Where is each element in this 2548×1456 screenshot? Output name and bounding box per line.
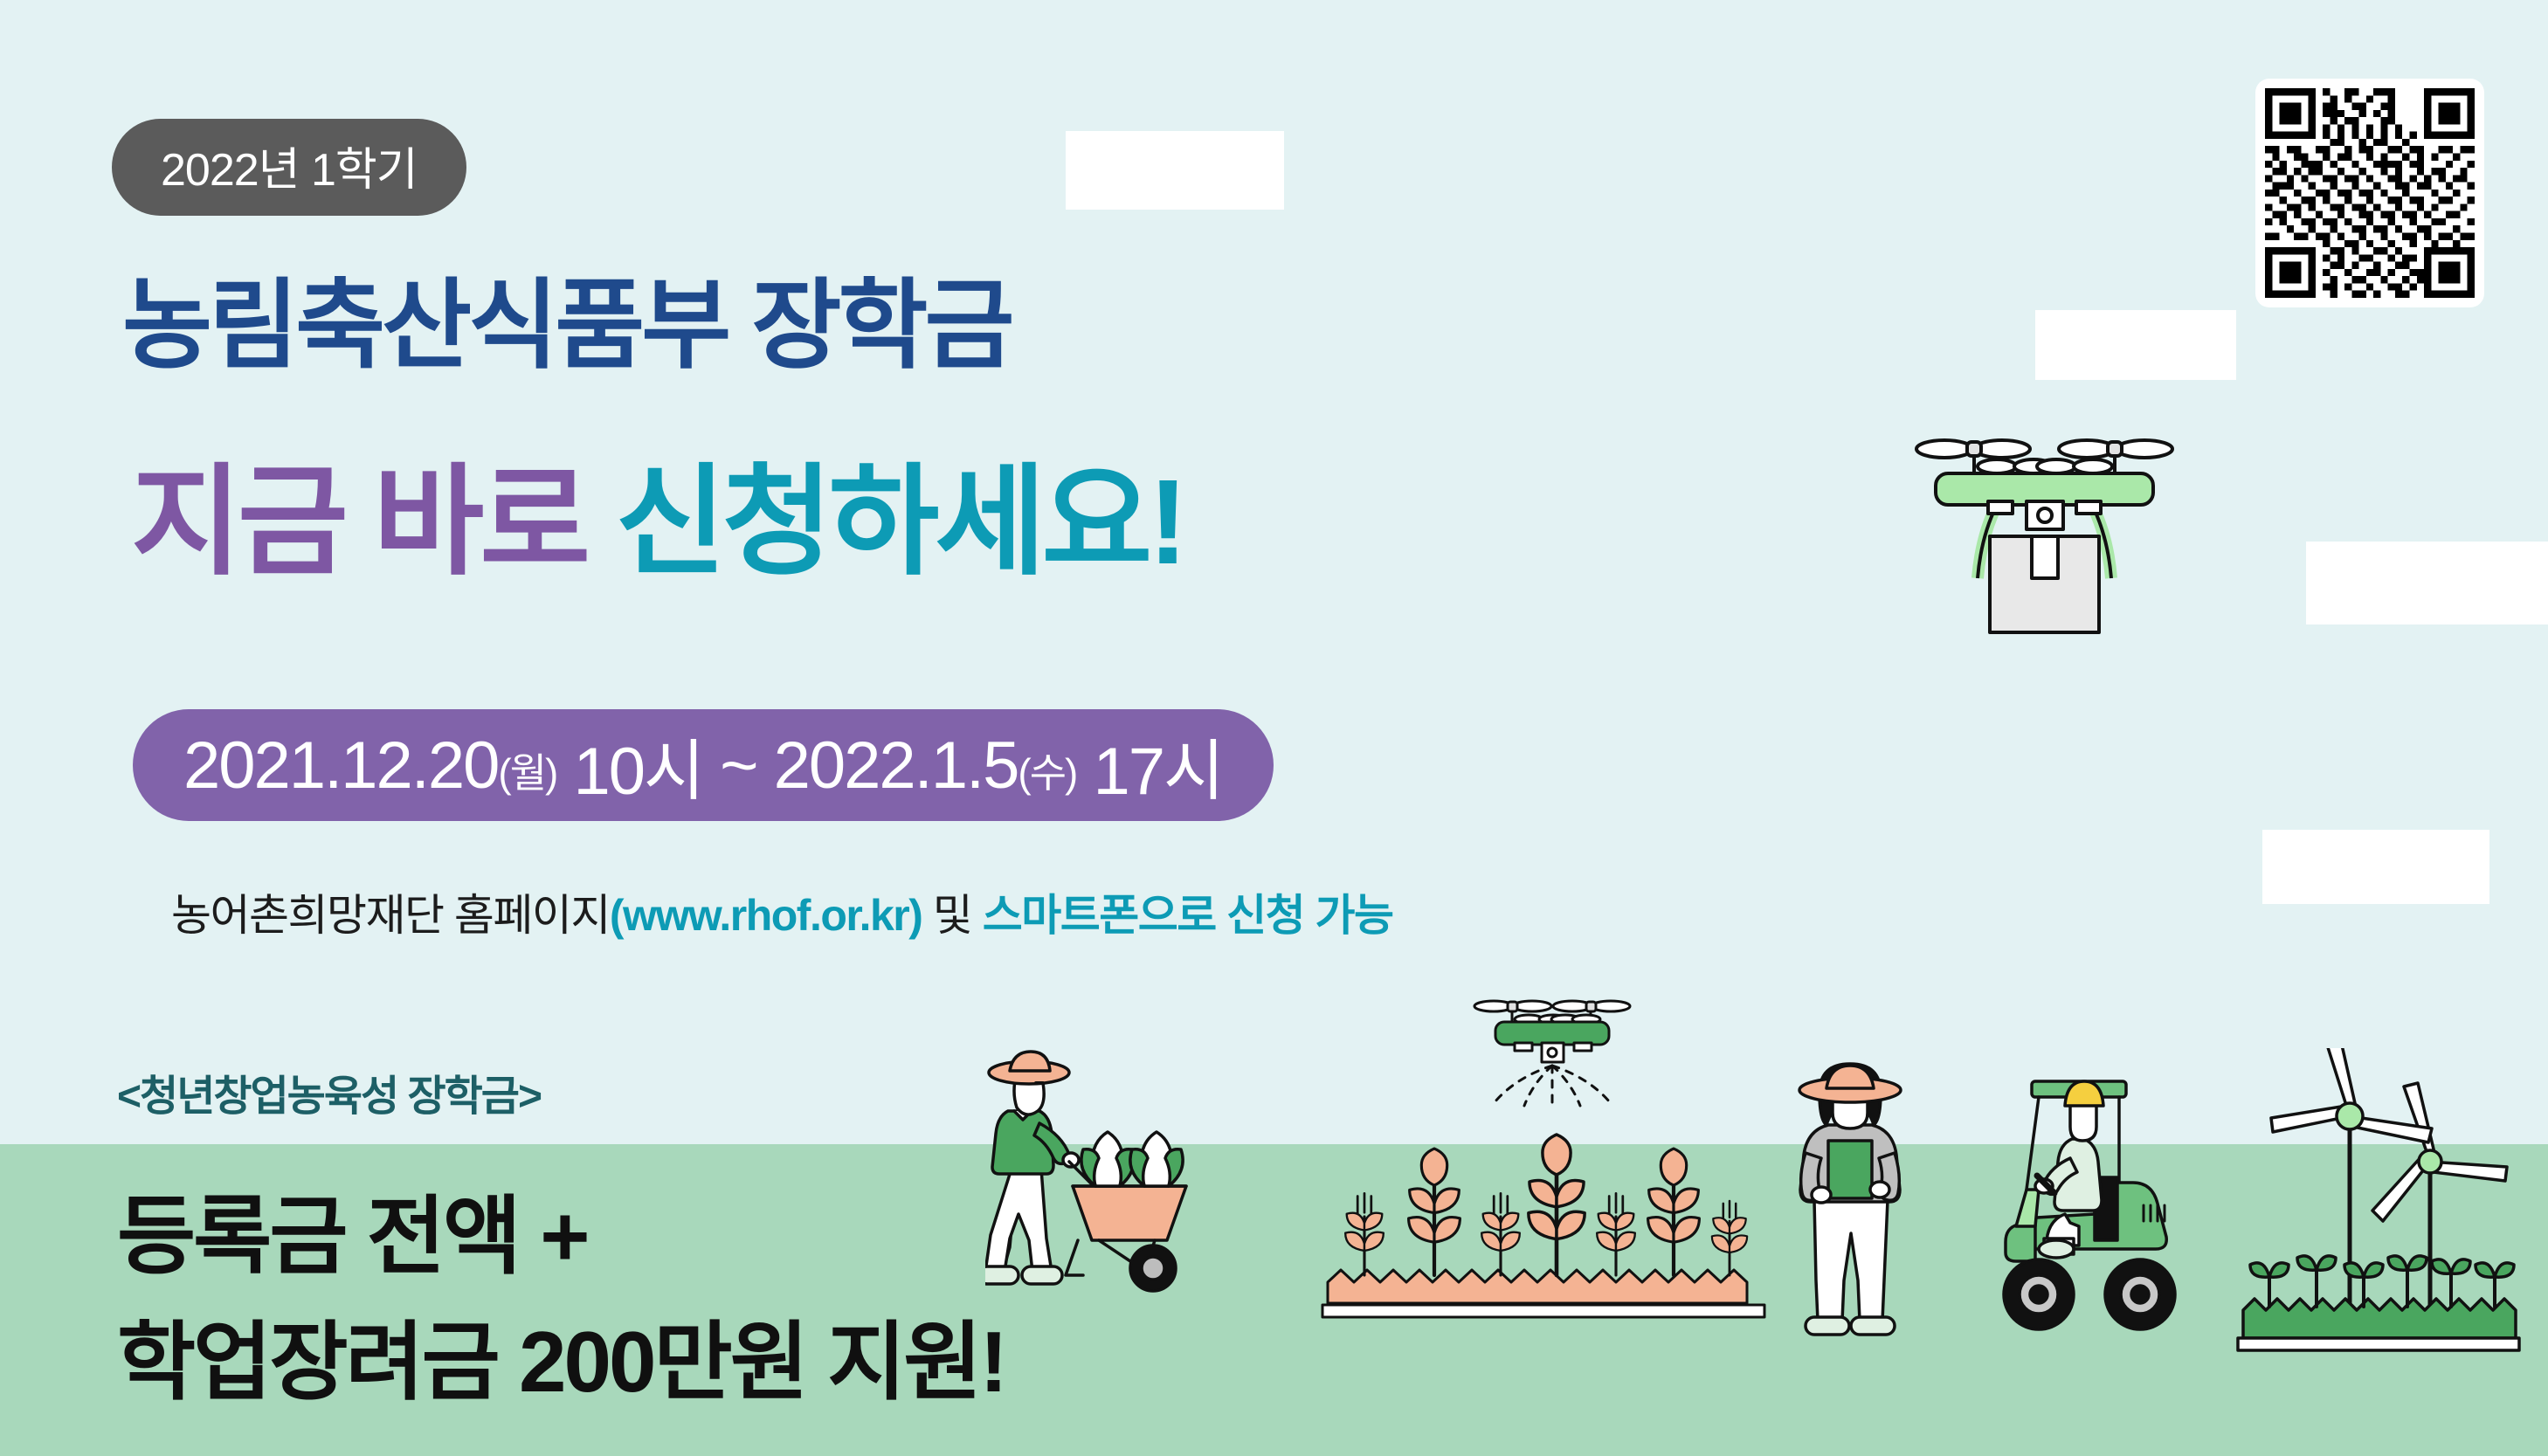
page-title: 농림축산식품부 장학금 — [122, 246, 1012, 388]
farmer-with-wheelbarrow-icon — [985, 1046, 1221, 1308]
delivery-drone-icon — [1894, 417, 2195, 646]
benefit-line-1: 등록금 전액 + — [117, 1167, 588, 1291]
cloud-1 — [1066, 131, 1284, 210]
headline-part-purple: 지금 바로 — [131, 455, 586, 590]
conjunction: 및 — [922, 891, 982, 940]
mobile-apply-note: 스마트폰으로 신청 가능 — [983, 891, 1393, 940]
cloud-2 — [2035, 310, 2236, 380]
application-channel-text: 농어촌희망재단 홈페이지(www.rhof.or.kr) 및 스마트폰으로 신청… — [171, 880, 1393, 943]
green-tractor-icon — [2000, 1074, 2227, 1363]
start-weekday: (월) — [498, 742, 556, 799]
foundation-name: 농어촌희망재단 홈페이지 — [171, 891, 610, 940]
application-period-pill: 2021.12.20(월) 10시 ~ 2022.1.5(수) 17시 — [133, 709, 1274, 821]
benefit-line-2: 학업장려금 200만원 지원! — [117, 1293, 1005, 1417]
end-date: 2022.1.5 — [774, 728, 1019, 804]
call-to-action-headline: 지금 바로 신청하세요! — [131, 424, 1184, 598]
start-date: 2021.12.20 — [183, 728, 498, 804]
qr-code-image — [2265, 88, 2475, 298]
wheat-field-with-spraying-drone-icon — [1319, 987, 1773, 1336]
farmer-with-tablet-icon — [1793, 1057, 1907, 1363]
semester-badge: 2022년 1학기 — [112, 119, 466, 216]
date-separator: ~ — [720, 728, 756, 804]
headline-part-teal: 신청하세요! — [616, 455, 1184, 590]
end-time: 17시 — [1094, 717, 1223, 813]
start-time: 10시 — [573, 717, 702, 813]
website-url[interactable]: (www.rhof.or.kr) — [610, 891, 922, 940]
cloud-4 — [2262, 830, 2489, 904]
qr-code[interactable] — [2255, 79, 2484, 307]
promo-poster: 2022년 1학기 농림축산식품부 장학금 지금 바로 신청하세요! 2021.… — [0, 0, 2548, 1456]
wind-turbines-with-seedlings-icon — [2236, 1048, 2524, 1371]
cloud-3 — [2306, 542, 2548, 624]
scholarship-category-label: <청년창업농육성 장학금> — [117, 1061, 541, 1122]
end-weekday: (수) — [1018, 742, 1076, 799]
